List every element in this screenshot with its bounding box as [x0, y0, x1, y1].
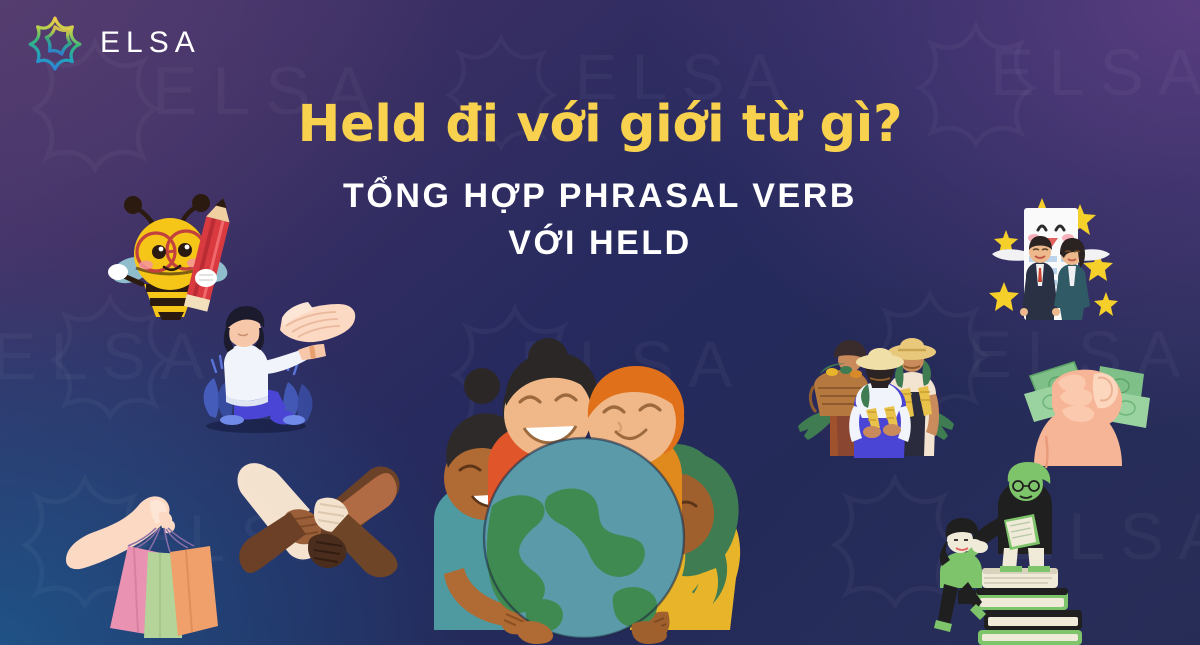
hand-holding-shopping-bags-illustration: [62, 462, 222, 645]
children-hugging-globe-illustration: [420, 330, 750, 645]
elsa-star-logo-icon: [24, 12, 86, 74]
helping-hand-illustration: [186, 300, 356, 442]
page-subtitle-line-1: TỔNG HỢP PHRASAL VERB: [0, 173, 1200, 220]
page-title: Held đi với giới từ gì?: [0, 96, 1200, 153]
fist-holding-money-illustration: [1012, 340, 1170, 470]
unity-arms-clasp-illustration: [232, 452, 404, 594]
page-subtitle-line-2: VỚI HELD: [0, 220, 1200, 267]
elsa-logo[interactable]: ELSA: [24, 12, 201, 74]
helping-up-book-stack-illustration: [932, 462, 1110, 645]
page-subtitle: TỔNG HỢP PHRASAL VERB VỚI HELD: [0, 173, 1200, 267]
headline-block: Held đi với giới từ gì? TỔNG HỢP PHRASAL…: [0, 96, 1200, 267]
elsa-logo-text: ELSA: [100, 26, 201, 60]
farmers-with-harvest-illustration: [792, 332, 960, 462]
elsa-promotional-banner: ELSA ELSA ELSA ELSA ELSA ELSA ELSA ELSA …: [0, 0, 1200, 645]
